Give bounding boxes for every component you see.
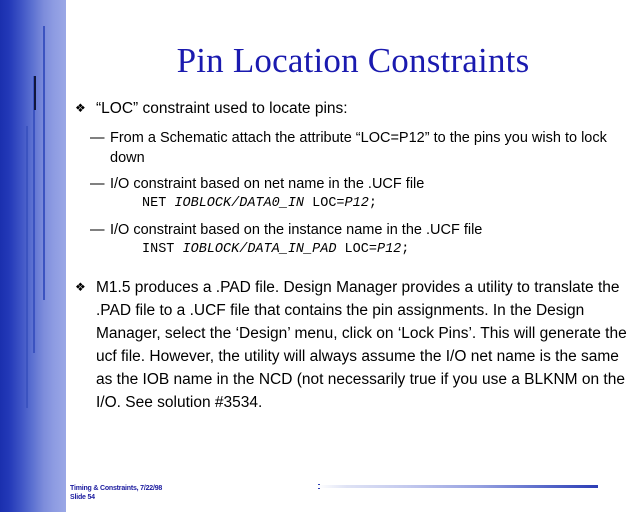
bullet-level2-schematic: — From a Schematic attach the attribute … — [72, 128, 628, 168]
code-keyword-net: NET — [142, 196, 174, 211]
code-operand-inst: IOBLOCK/DATA_IN_PAD — [183, 242, 337, 257]
code-value-inst: P12 — [377, 242, 401, 257]
footer-slide-number: Slide 54 — [70, 494, 162, 503]
em-dash-bullet-icon: — — [90, 220, 105, 240]
bullet-level2-instancename-text: I/O constraint based on the instance nam… — [110, 222, 482, 238]
code-line-net: NET IOBLOCK/DATA0_IN LOC=P12; — [72, 194, 628, 214]
bullet-level2-schematic-text: From a Schematic attach the attribute “L… — [110, 130, 607, 166]
footer-gradient-rule — [318, 485, 598, 488]
code-keyword-inst: INST — [142, 242, 183, 257]
slide-title: Pin Location Constraints — [66, 40, 640, 82]
slide-body: ❖ “LOC” constraint used to locate pins: … — [72, 98, 628, 414]
code-assign-inst: LOC= — [336, 242, 377, 257]
bullet-level1-padfile: ❖ M1.5 produces a .PAD file. Design Mana… — [72, 276, 628, 414]
spacer — [72, 121, 628, 128]
code-assign-net: LOC= — [304, 196, 345, 211]
code-operand-net: IOBLOCK/DATA0_IN — [174, 196, 304, 211]
code-terminator-inst: ; — [401, 242, 409, 257]
slide-canvas: Pin Location Constraints ❖ “LOC” constra… — [0, 0, 640, 512]
diamond-bullet-icon: ❖ — [75, 276, 86, 299]
left-decorative-band — [0, 0, 66, 512]
bullet-level1-padfile-text: M1.5 produces a .PAD file. Design Manage… — [96, 279, 627, 411]
slide-footer: Timing & Constraints, 7/22/98 Slide 54 — [70, 485, 162, 502]
diamond-bullet-icon: ❖ — [75, 98, 86, 119]
bullet-level2-instancename: — I/O constraint based on the instance n… — [72, 220, 628, 240]
spacer — [72, 260, 628, 276]
em-dash-bullet-icon: — — [90, 128, 105, 148]
band-accent-line-1 — [26, 126, 28, 408]
code-line-inst: INST IOBLOCK/DATA_IN_PAD LOC=P12; — [72, 240, 628, 260]
band-accent-line-2 — [33, 76, 35, 353]
bullet-level2-netname: — I/O constraint based on net name in th… — [72, 174, 628, 194]
band-accent-line-3 — [43, 26, 45, 300]
em-dash-bullet-icon: — — [90, 174, 105, 194]
bullet-level1-loc-text: “LOC” constraint used to locate pins: — [96, 100, 348, 117]
code-value-net: P12 — [345, 196, 369, 211]
bullet-level1-loc: ❖ “LOC” constraint used to locate pins: — [72, 98, 628, 119]
code-terminator-net: ; — [369, 196, 377, 211]
band-accent-line-2-dark-segment — [34, 76, 36, 110]
footer-deck-title: Timing & Constraints, 7/22/98 — [70, 485, 162, 494]
bullet-level2-netname-text: I/O constraint based on net name in the … — [110, 176, 424, 192]
